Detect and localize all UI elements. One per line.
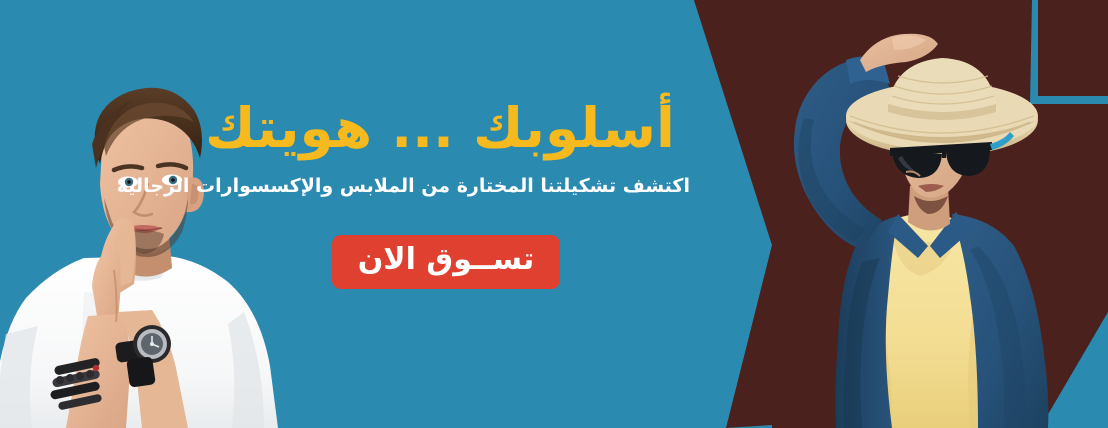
promo-banner: أسلوبك ... هويتك اكتشف تشكيلتنا المختارة… (0, 0, 1108, 428)
right-model-photo (742, 0, 1108, 428)
banner-subheadline: اكتشف تشكيلتنا المختارة من الملابس والإك… (196, 173, 696, 201)
shop-now-button[interactable]: تســوق الان (332, 235, 561, 289)
banner-headline: أسلوبك ... هويتك (196, 96, 696, 161)
banner-copy: أسلوبك ... هويتك اكتشف تشكيلتنا المختارة… (196, 96, 696, 289)
cta-container: تســوق الان (196, 235, 696, 289)
